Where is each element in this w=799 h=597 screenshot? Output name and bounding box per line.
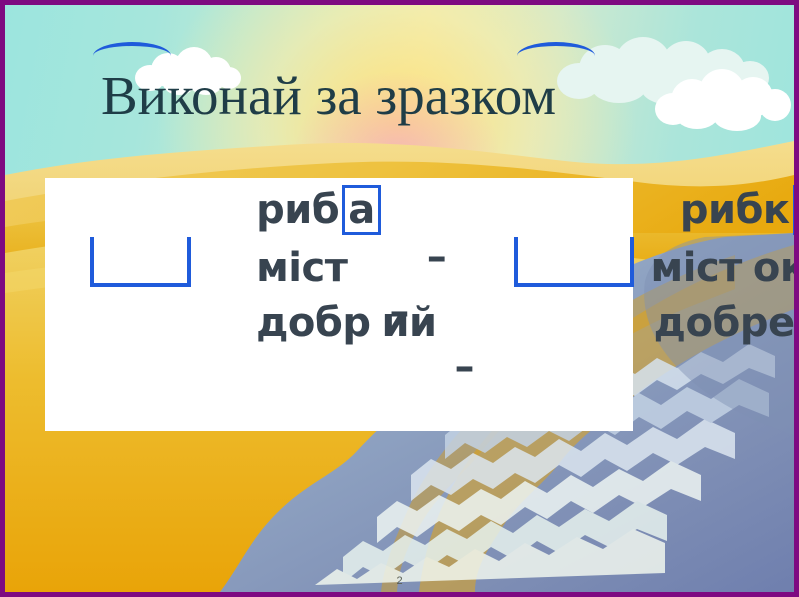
page-title: Виконай за зразком	[101, 65, 556, 127]
content-card: риба – рибка міст – міст	[45, 178, 633, 431]
separator-dash: –	[455, 345, 475, 389]
ending-text: ий	[381, 300, 436, 346]
word-right: добренький	[491, 257, 794, 389]
word-left: добрий	[93, 257, 437, 389]
stem-text: добреньк	[652, 301, 794, 345]
slide-inner-frame: риба – рибка міст – міст	[5, 5, 794, 592]
example-row: добрий – добренький	[93, 334, 794, 389]
examples-list: риба – рибка міст – міст	[93, 224, 794, 389]
slide: риба – рибка міст – міст	[0, 0, 799, 597]
page-number: 2	[5, 575, 794, 587]
stem-text: добр	[254, 301, 372, 345]
